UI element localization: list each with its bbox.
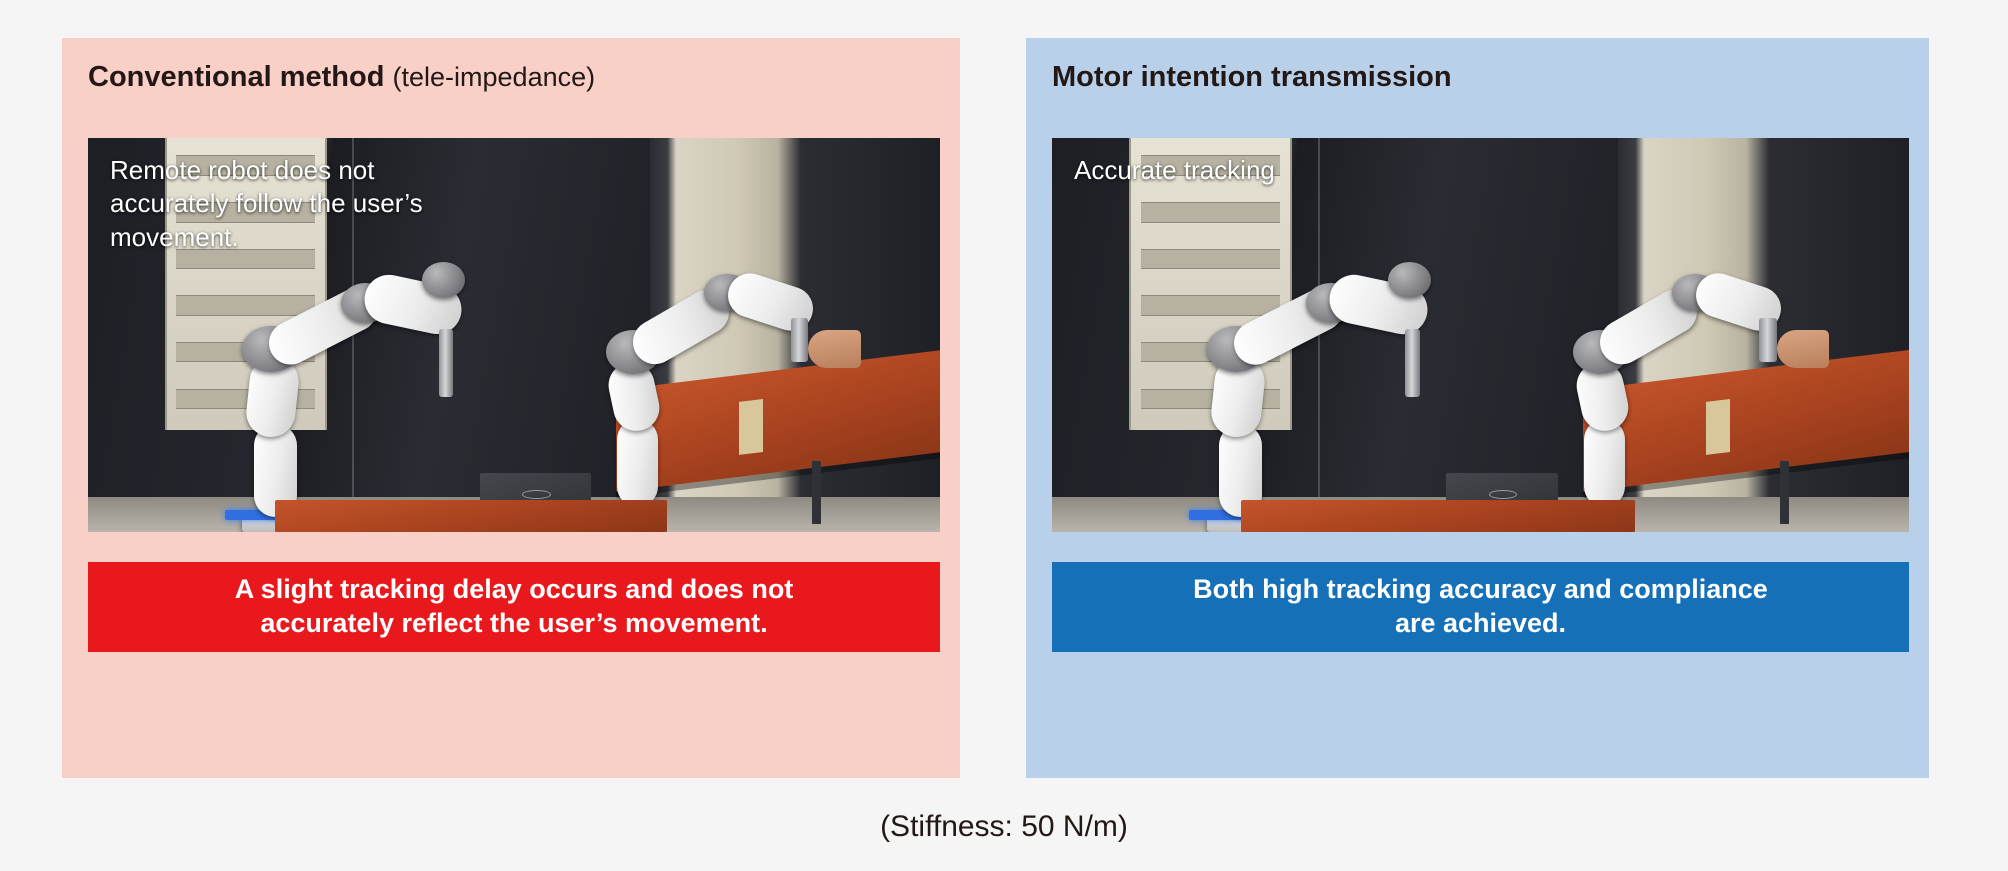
- follower-robot-arm: [207, 225, 497, 532]
- panel-title-conventional: Conventional method (tele-impedance): [88, 62, 946, 94]
- figure-caption: (Stiffness: 50 N/m): [0, 810, 2008, 844]
- leader-robot-arm: [565, 217, 855, 532]
- photo-conventional: Remote robot does not accurately follow …: [88, 138, 940, 532]
- panel-title-text: Motor intention transmission: [1052, 61, 1452, 93]
- figure-root: Conventional method (tele-impedance): [0, 0, 2008, 871]
- photo-overlay-conventional: Remote robot does not accurately follow …: [110, 154, 423, 254]
- panel-title-motor-intention: Motor intention transmission: [1052, 62, 1915, 94]
- leader-robot-arm: [1532, 217, 1823, 532]
- panel-motor-intention: Motor intention transmission: [1026, 38, 1929, 778]
- wooden-table-front: [1241, 500, 1635, 532]
- panel-title-suffix: (tele-impedance): [393, 62, 596, 92]
- panel-title-text: Conventional method: [88, 61, 384, 93]
- follower-robot-arm: [1172, 225, 1463, 532]
- photo-motor-intention: Accurate tracking: [1052, 138, 1909, 532]
- banner-conventional: A slight tracking delay occurs and does …: [88, 562, 940, 652]
- panel-conventional: Conventional method (tele-impedance): [62, 38, 960, 778]
- photo-overlay-motor-intention: Accurate tracking: [1074, 154, 1275, 187]
- banner-motor-intention: Both high tracking accuracy and complian…: [1052, 562, 1909, 652]
- wooden-table-front: [275, 500, 667, 532]
- lab-scene: [1052, 138, 1909, 532]
